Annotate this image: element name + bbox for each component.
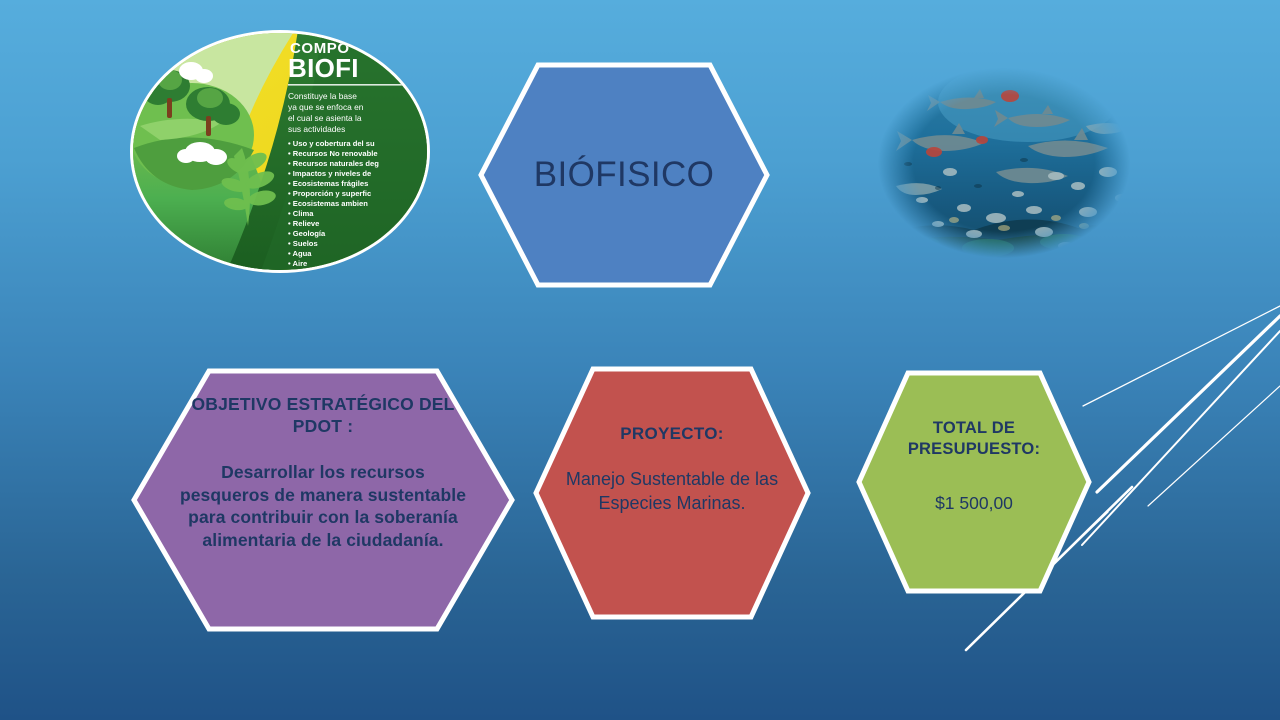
infographic-paragraph-3: el cual se asienta la — [288, 113, 362, 123]
infographic-bullet: • Recursos No renovable — [288, 149, 378, 158]
deco-line-1 — [1083, 306, 1280, 406]
hexagon-proyecto-body: Manejo Sustentable de las Especies Marin… — [550, 468, 795, 516]
hexagon-proyecto[interactable]: PROYECTO: Manejo Sustentable de las Espe… — [533, 366, 811, 620]
infographic-paragraph-2: ya que se enfoca en — [288, 102, 364, 112]
infographic-bullet: • Ecosistemas frágiles — [288, 179, 368, 188]
hexagon-biofisico-label: BIÓFISICO — [478, 62, 770, 288]
infographic-bullet: • Clima — [288, 209, 314, 218]
hexagon-presupuesto-heading: TOTAL DE PRESUPUESTO: — [870, 418, 1078, 461]
infographic-paragraph-4: sus actividades — [288, 124, 345, 134]
infographic-paragraph-1: Constituye la base — [288, 91, 357, 101]
infographic-bullet: • Impactos y niveles de — [288, 169, 371, 178]
infographic-circle-image: COMPO BIOFI Constituye la base ya que se… — [130, 30, 430, 273]
ocean-photo-artwork — [878, 68, 1130, 258]
hexagon-objetivo-estrategico[interactable]: OBJETIVO ESTRATÉGICO DEL PDOT : Desarrol… — [131, 368, 515, 632]
deco-line-2 — [1097, 316, 1280, 492]
infographic-bullet: • Suelos — [288, 239, 318, 248]
infographic-bullet: • Agua — [288, 249, 312, 258]
hexagon-total-presupuesto[interactable]: TOTAL DE PRESUPUESTO: $1 500,00 — [856, 370, 1092, 594]
ocean-photo-oval — [878, 68, 1130, 258]
hexagon-proyecto-label: PROYECTO: Manejo Sustentable de las Espe… — [533, 366, 811, 620]
infographic-bullet: • Recursos naturales deg — [288, 159, 379, 168]
hexagon-objetivo-label: OBJETIVO ESTRATÉGICO DEL PDOT : Desarrol… — [131, 368, 515, 632]
infographic-bullet: • Proporción y superfic — [288, 189, 371, 198]
hexagon-presupuesto-label: TOTAL DE PRESUPUESTO: $1 500,00 — [856, 370, 1092, 594]
infographic-artwork: COMPO BIOFI Constituye la base ya que se… — [130, 30, 430, 273]
hexagon-objetivo-body: Desarrollar los recursos pesqueros de ma… — [177, 461, 469, 552]
infographic-bullet: • Relieve — [288, 219, 319, 228]
infographic-heading-2: BIOFI — [288, 53, 359, 83]
deco-line-4 — [1148, 386, 1280, 506]
infographic-bullet: • Ecosistemas ambien — [288, 199, 368, 208]
hexagon-proyecto-heading: PROYECTO: — [620, 424, 723, 444]
hexagon-biofisico[interactable]: BIÓFISICO — [478, 62, 770, 288]
hexagon-presupuesto-amount: $1 500,00 — [935, 493, 1013, 514]
hexagon-biofisico-title: BIÓFISICO — [534, 154, 715, 195]
infographic-bullet: • Geología — [288, 229, 326, 238]
deco-line-3 — [1082, 331, 1280, 545]
infographic-bullet: • Aire — [288, 259, 307, 268]
hexagon-objetivo-heading: OBJETIVO ESTRATÉGICO DEL PDOT : — [177, 394, 469, 438]
infographic-bullet: • Uso y cobertura del su — [288, 139, 375, 148]
